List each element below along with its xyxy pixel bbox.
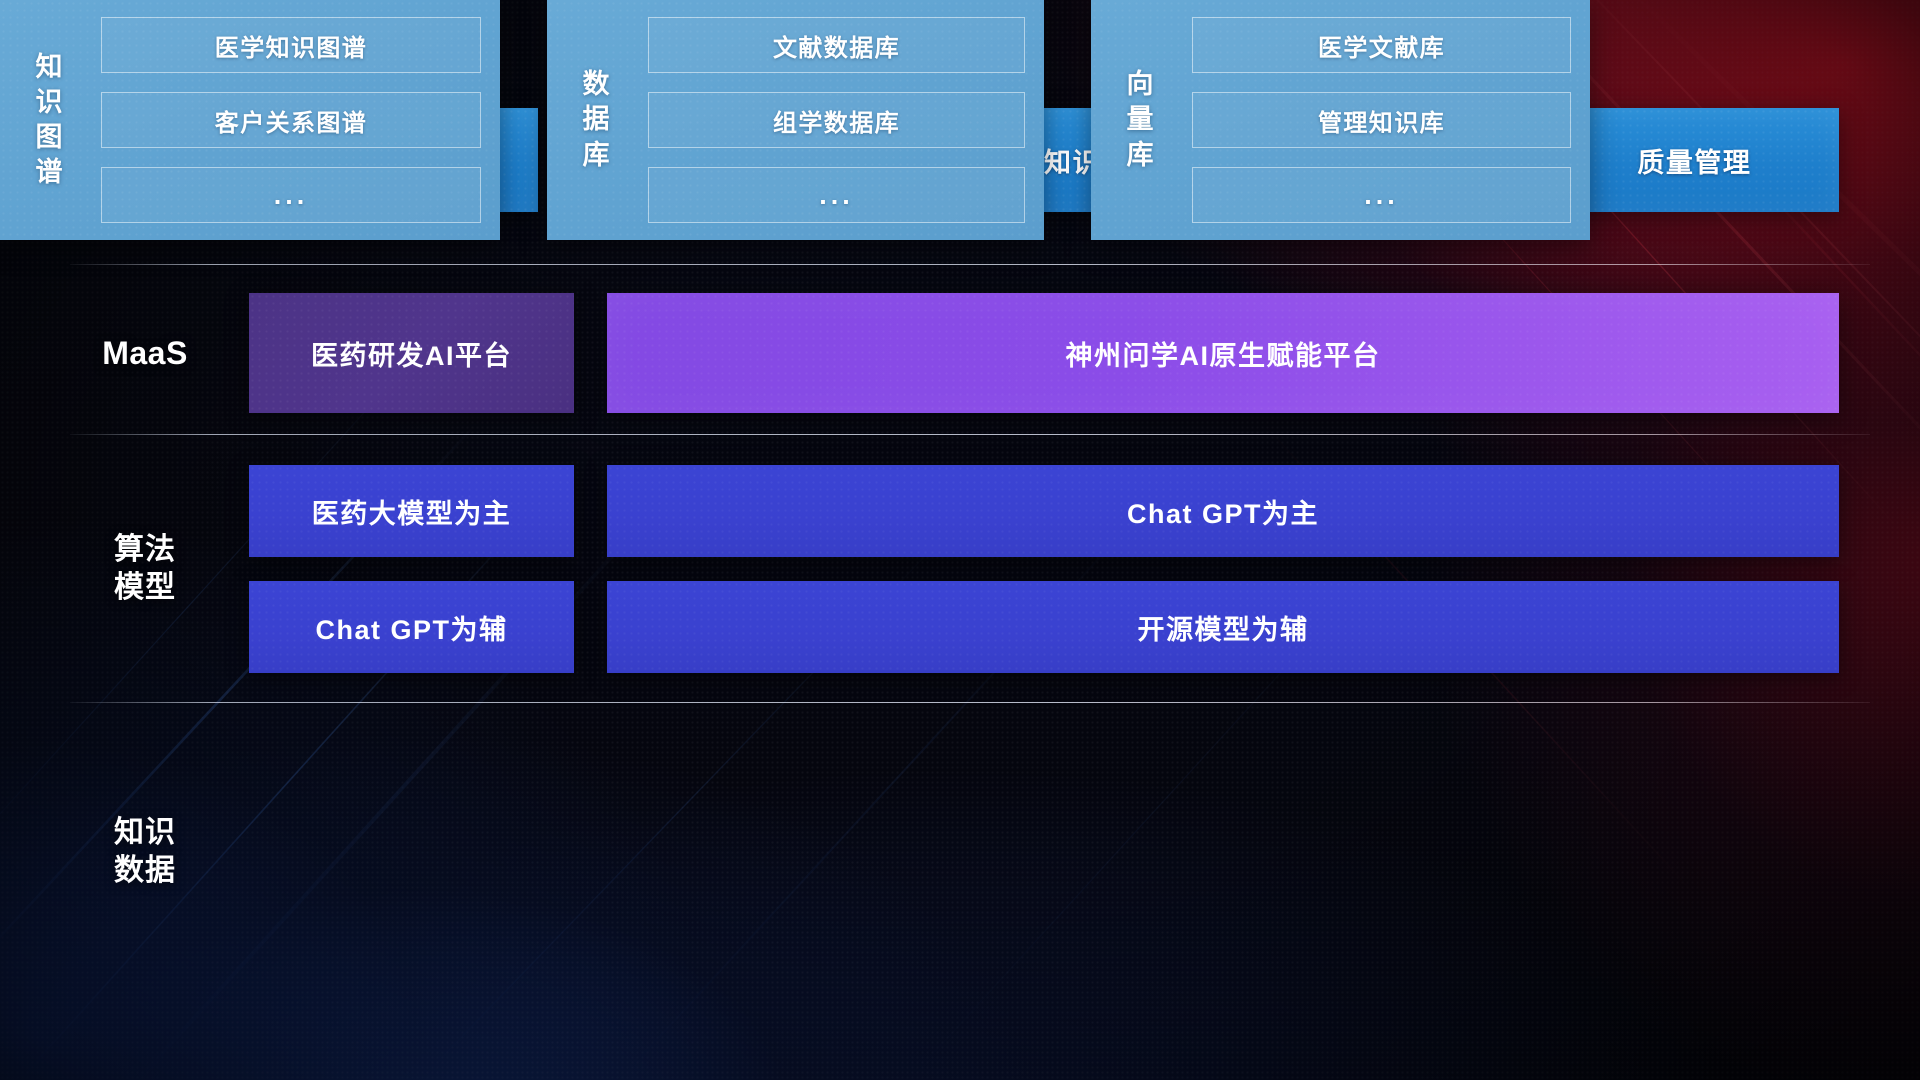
knowledge-group-database: 数 据 库 文献数据库 组学数据库 ... xyxy=(547,0,1044,240)
knowledge-group-title-knowledge-graph: 知 识 图 谱 xyxy=(17,17,83,223)
maas-card-pharma-ai-platform[interactable]: 医药研发AI平台 xyxy=(249,293,574,413)
database-title-char-3: 库 xyxy=(583,138,612,173)
database-title-char-2: 据 xyxy=(583,102,612,137)
knowledge-items-database: 文献数据库 组学数据库 ... xyxy=(648,17,1025,223)
algo-card-chatgpt-secondary[interactable]: Chat GPT为辅 xyxy=(249,581,574,673)
knowledge-title-char-2: 识 xyxy=(36,85,65,120)
vector-title-char-1: 向 xyxy=(1127,67,1156,102)
maas-row: 医药研发AI平台 神州问学AI原生赋能平台 xyxy=(249,293,1839,413)
rail-label-algorithm-line-1: 算法 xyxy=(114,531,176,569)
algo-card-opensource-secondary[interactable]: 开源模型为辅 xyxy=(607,581,1839,673)
knowledge-item-medical-knowledge-graph[interactable]: 医学知识图谱 xyxy=(101,17,481,73)
algorithm-row-secondary: Chat GPT为辅 开源模型为辅 xyxy=(249,581,1839,673)
knowledge-title-char-3: 图 xyxy=(36,120,65,155)
knowledge-group-title-vector-store: 向 量 库 xyxy=(1108,17,1174,223)
maas-card-shenzhou-wenxue-platform[interactable]: 神州问学AI原生赋能平台 xyxy=(607,293,1839,413)
knowledge-item-more-database[interactable]: ... xyxy=(648,167,1025,223)
knowledge-items-vector-store: 医学文献库 管理知识库 ... xyxy=(1192,17,1571,223)
knowledge-item-literature-database[interactable]: 文献数据库 xyxy=(648,17,1025,73)
knowledge-items-knowledge-graph: 医学知识图谱 客户关系图谱 ... xyxy=(101,17,481,223)
knowledge-item-omics-database[interactable]: 组学数据库 xyxy=(648,92,1025,148)
divider-maas-algorithm xyxy=(70,434,1870,435)
knowledge-item-management-knowledge-store[interactable]: 管理知识库 xyxy=(1192,92,1571,148)
knowledge-item-more-knowledge-graph[interactable]: ... xyxy=(101,167,481,223)
divider-applications-maas xyxy=(70,264,1870,265)
algo-card-chatgpt-primary[interactable]: Chat GPT为主 xyxy=(607,465,1839,557)
rail-label-knowledge-line-2: 数据 xyxy=(114,852,176,890)
algorithm-row-primary: 医药大模型为主 Chat GPT为主 xyxy=(249,465,1839,557)
algo-card-pharma-llm-primary[interactable]: 医药大模型为主 xyxy=(249,465,574,557)
app-card-quality-management[interactable]: 质量管理 xyxy=(1550,108,1839,212)
knowledge-group-vector-store: 向 量 库 医学文献库 管理知识库 ... xyxy=(1091,0,1590,240)
architecture-diagram: 应用 场景 医药研发 医学事务 企业知识 效能工具 质量管理 MaaS 医药研发… xyxy=(0,0,1920,1080)
knowledge-title-char-1: 知 xyxy=(36,50,65,85)
rail-label-maas: MaaS xyxy=(70,293,220,413)
rail-label-knowledge: 知识 数据 xyxy=(70,732,220,972)
knowledge-item-more-vector-store[interactable]: ... xyxy=(1192,167,1571,223)
knowledge-item-customer-relation-graph[interactable]: 客户关系图谱 xyxy=(101,92,481,148)
divider-algorithm-knowledge xyxy=(70,702,1870,703)
vector-title-char-3: 库 xyxy=(1127,138,1156,173)
rail-label-algorithm: 算法 模型 xyxy=(70,465,220,673)
knowledge-group-knowledge-graph: 知 识 图 谱 医学知识图谱 客户关系图谱 ... xyxy=(0,0,500,240)
database-title-char-1: 数 xyxy=(583,67,612,102)
rail-label-knowledge-line-1: 知识 xyxy=(114,814,176,852)
knowledge-title-char-4: 谱 xyxy=(36,155,65,190)
knowledge-row: 知 识 图 谱 医学知识图谱 客户关系图谱 ... 数 据 库 文献数据库 组学… xyxy=(0,0,1590,240)
vector-title-char-2: 量 xyxy=(1127,102,1156,137)
rail-label-maas-text: MaaS xyxy=(102,333,188,374)
knowledge-item-medical-literature-store[interactable]: 医学文献库 xyxy=(1192,17,1571,73)
knowledge-group-title-database: 数 据 库 xyxy=(564,17,630,223)
rail-label-algorithm-line-2: 模型 xyxy=(114,569,176,607)
